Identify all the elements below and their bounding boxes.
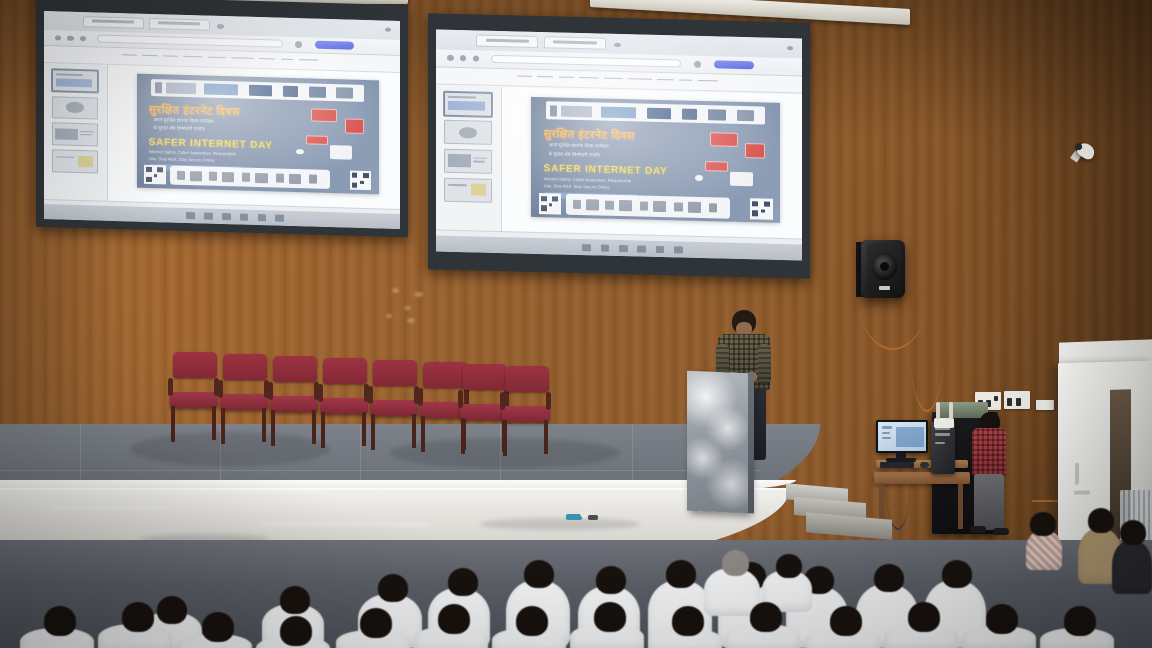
audience-head [516, 606, 548, 636]
menu-item[interactable] [299, 59, 319, 60]
emblem-icon [155, 82, 161, 93]
address-bar[interactable] [97, 35, 282, 48]
sip-logo [283, 86, 298, 97]
new-tab-icon[interactable] [217, 24, 224, 28]
browser-tab[interactable] [544, 36, 606, 50]
right-screen-surface: सुरक्षित इंटरनेट दिवस अपने सुरक्षित इंटर… [436, 30, 802, 261]
left-screen-frame: सुरक्षित इंटरनेट दिवस अपने सुरक्षित इंटर… [36, 0, 408, 237]
ppt-workspace: सुरक्षित इंटरनेट दिवस अपने सुरक्षित इंटर… [436, 85, 802, 245]
taskbar-icon[interactable] [582, 244, 591, 251]
digital-india-logo [204, 84, 238, 96]
slide-qr-right [350, 171, 372, 191]
menu-item[interactable] [208, 57, 226, 58]
stage-chair[interactable] [268, 356, 320, 448]
pa-speaker [861, 240, 905, 298]
stage-chair[interactable] [168, 352, 220, 444]
speaker-badge [879, 286, 890, 290]
audience-head [942, 560, 972, 588]
technician-torso [972, 428, 1006, 476]
door-lock[interactable] [1074, 490, 1090, 494]
slide-device-laptop [710, 132, 737, 147]
isea-logo [336, 87, 353, 98]
menu-item[interactable] [163, 56, 178, 57]
audience-head [830, 606, 862, 636]
forward-icon[interactable] [67, 35, 73, 40]
audience-head [524, 560, 554, 588]
taskbar-icon[interactable] [619, 245, 628, 252]
audience-head [1088, 508, 1114, 533]
new-tab-icon[interactable] [614, 43, 621, 48]
audience-head [157, 596, 187, 624]
menu-item[interactable] [259, 58, 275, 59]
audience-head [874, 564, 904, 592]
presenter-right-arm [758, 344, 771, 384]
taskbar-icon[interactable] [186, 212, 195, 219]
menu-item[interactable] [517, 76, 532, 77]
speaker-cone-icon [872, 253, 897, 280]
audience-head [908, 602, 940, 632]
address-bar[interactable] [491, 55, 681, 68]
audience-head [776, 554, 802, 578]
slide-qr-left [539, 193, 561, 214]
wall-socket-plate[interactable] [1036, 400, 1054, 410]
router-antenna [936, 402, 940, 419]
audience-head [202, 612, 234, 642]
menu-item[interactable] [559, 77, 574, 78]
menu-item[interactable] [657, 79, 673, 80]
rack-top-equipment [938, 402, 988, 418]
slide-icon-strip [566, 194, 730, 219]
audience-member-checked [1026, 530, 1062, 570]
mouse[interactable] [920, 462, 929, 468]
wifi-router [934, 418, 954, 428]
technician-shoe [970, 526, 986, 533]
audience-head [666, 560, 696, 588]
audience-head [122, 602, 154, 632]
forward-icon[interactable] [460, 55, 467, 61]
slide-thumbnail[interactable] [444, 91, 492, 116]
audience-head [378, 574, 408, 602]
podium-edge [748, 373, 754, 513]
wall-switch-plate[interactable] [1004, 391, 1030, 409]
browser-tab[interactable] [149, 18, 210, 31]
desk-leg [958, 483, 963, 529]
browser-tab[interactable] [476, 34, 538, 48]
slide-thumbnail[interactable] [52, 69, 99, 93]
desktop-tower [931, 422, 955, 474]
speaker-dustcap [880, 262, 889, 271]
digital-india-logo [601, 106, 636, 118]
emblem-icon [550, 105, 557, 117]
stage-chair[interactable] [368, 360, 420, 452]
door-handle[interactable] [1075, 463, 1079, 485]
ministry-logo [561, 105, 592, 117]
taskbar-icon[interactable] [258, 214, 267, 221]
menu-item[interactable] [183, 56, 203, 57]
audience-head [596, 566, 626, 594]
stage-chair[interactable] [218, 354, 270, 446]
taskbar-icon[interactable] [204, 213, 213, 220]
wall-cable-right [1032, 252, 1060, 502]
sip-logo [682, 108, 697, 120]
slide-device-monitor [730, 171, 752, 186]
browser-tab[interactable] [83, 16, 144, 29]
auditorium-scene: सुरक्षित इंटरनेट दिवस अपने सुरक्षित इंटर… [0, 0, 1152, 648]
certin-logo [309, 86, 326, 97]
speaker-face [867, 243, 901, 295]
computer-desk [874, 472, 970, 484]
slide-device-laptop [311, 108, 338, 122]
slide-device-monitor [330, 145, 352, 159]
menu-item[interactable] [281, 59, 293, 60]
wall-blemish [414, 292, 423, 297]
slide-device-tablet [705, 161, 727, 171]
certin-logo [708, 109, 726, 121]
ppt-workspace: सुरक्षित इंटरनेट दिवस अपने सुरक्षित इंटर… [44, 63, 400, 214]
menu-item[interactable] [628, 78, 652, 79]
audience-head [280, 586, 310, 614]
stage-chair[interactable] [500, 366, 552, 458]
slide-thumbnail[interactable] [444, 120, 492, 145]
audience-head [360, 608, 392, 638]
reload-icon[interactable] [80, 36, 86, 41]
wall-blemish [407, 318, 415, 323]
slide-thumbnail[interactable] [52, 96, 99, 120]
taskbar-icon[interactable] [240, 214, 249, 221]
ministry-logo [166, 82, 196, 94]
audience-head [594, 602, 626, 632]
audience-head [44, 606, 76, 636]
taskbar-icon[interactable] [637, 245, 646, 252]
slide-thumbnail[interactable] [52, 123, 99, 147]
slide-qr-right [750, 198, 772, 219]
share-button[interactable] [714, 60, 754, 69]
speaking-podium [687, 371, 749, 513]
share-button[interactable] [315, 41, 354, 50]
menu-item[interactable] [579, 77, 599, 78]
nic-logo [647, 107, 671, 119]
reload-icon[interactable] [473, 56, 480, 62]
audience-head [1064, 606, 1096, 636]
taskbar-icon[interactable] [601, 244, 610, 251]
slide-device-mobile [345, 118, 364, 133]
router-antenna [949, 402, 953, 419]
taskbar-icon[interactable] [674, 246, 683, 253]
slide-thumbnail[interactable] [444, 177, 492, 202]
audience-head-grey [722, 550, 749, 576]
slide-thumbnail[interactable] [444, 149, 492, 174]
menu-item[interactable] [142, 55, 158, 56]
desktop-monitor [876, 420, 928, 453]
technician-legs [974, 474, 1004, 530]
slide-canvas[interactable]: सुरक्षित इंटरनेट दिवस अपने सुरक्षित इंटर… [137, 74, 379, 194]
menu-item[interactable] [679, 80, 692, 81]
slide-thumbnail[interactable] [52, 150, 99, 174]
monitor-screen [878, 422, 926, 451]
wall-blemish [392, 288, 399, 293]
technician-shoe [993, 528, 1009, 535]
taskbar-icon[interactable] [222, 213, 231, 220]
back-icon[interactable] [55, 35, 61, 40]
slide-node-dot [296, 149, 303, 155]
keyboard[interactable] [880, 462, 914, 468]
slide-thumbnail-rail [44, 63, 108, 206]
slide-qr-left [144, 165, 166, 185]
audience-head [448, 568, 478, 596]
taskbar-icon[interactable] [656, 245, 665, 252]
slide-thumbnail-rail [436, 85, 502, 238]
window-close-icon[interactable] [787, 46, 793, 50]
audience-head [438, 604, 470, 634]
right-screen-frame: सुरक्षित इंटरनेट दिवस अपने सुरक्षित इंटर… [428, 13, 810, 278]
audience-member-dark [1112, 540, 1152, 594]
audience-head [986, 604, 1018, 634]
audience-head [750, 602, 782, 632]
wall-blemish [404, 306, 411, 310]
menu-item[interactable] [604, 78, 622, 79]
account-icon[interactable] [295, 41, 302, 48]
menu-item[interactable] [698, 80, 718, 81]
slide-canvas[interactable]: सुरक्षित इंटरनेट दिवस अपने सुरक्षित इंटर… [531, 96, 780, 223]
audience-head [672, 606, 704, 636]
nic-logo [249, 85, 272, 97]
wall-blemish [386, 314, 392, 318]
back-icon[interactable] [447, 55, 454, 61]
stage-chair[interactable] [318, 358, 370, 450]
slide-device-tablet [306, 135, 328, 145]
taskbar-icon[interactable] [275, 215, 284, 222]
audience-head [1120, 520, 1146, 545]
audience-head [1030, 512, 1056, 536]
isea-logo [737, 109, 755, 121]
stage-object-dark [588, 515, 598, 520]
window-close-icon[interactable] [385, 28, 391, 32]
menu-item[interactable] [231, 58, 254, 59]
audience-head [280, 616, 312, 646]
left-screen-surface: सुरक्षित इंटरनेट दिवस अपने सुरक्षित इंटर… [44, 11, 400, 229]
account-icon[interactable] [694, 60, 701, 67]
menu-item[interactable] [122, 55, 137, 56]
slide-device-mobile [745, 143, 765, 159]
menu-item[interactable] [537, 76, 554, 77]
